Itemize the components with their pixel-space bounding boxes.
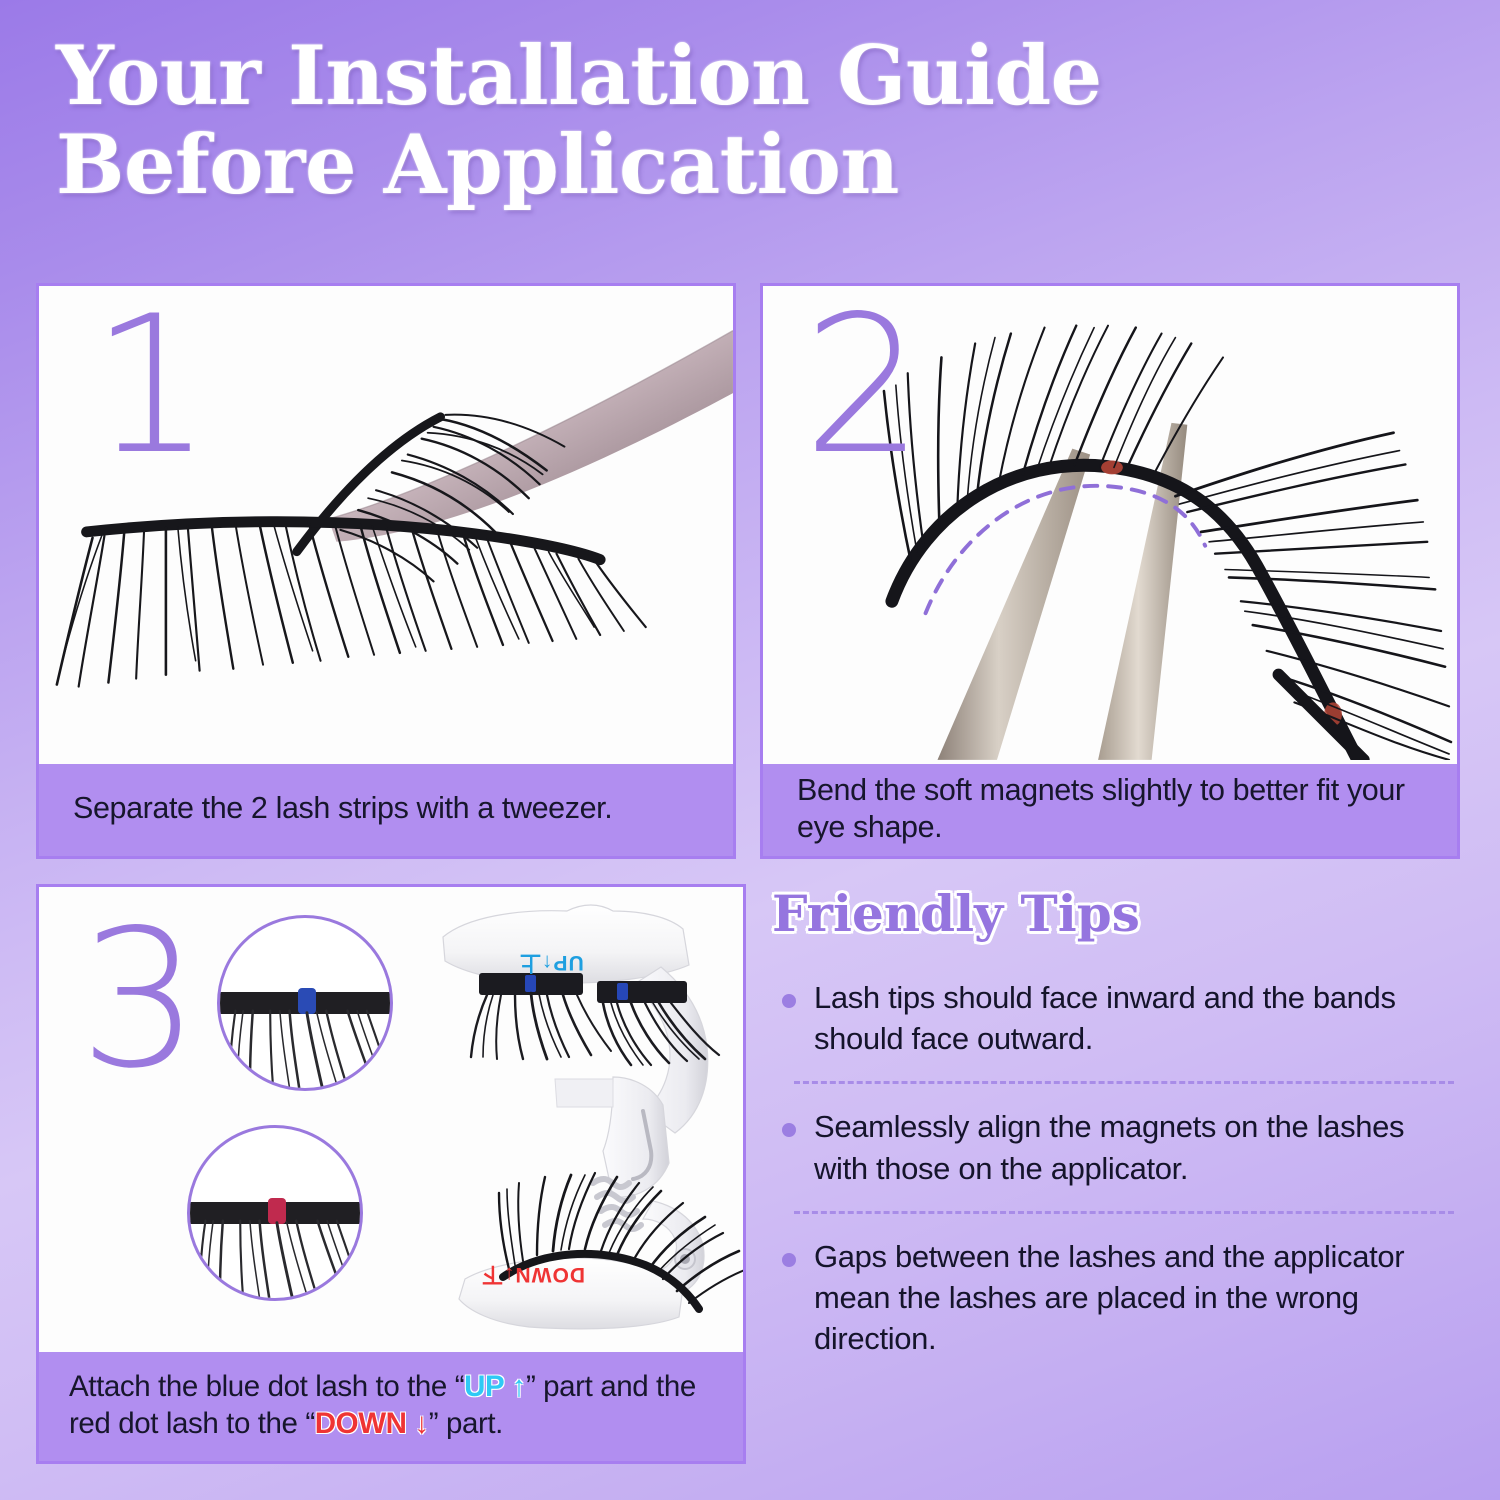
step-1-photo: 1 — [39, 286, 733, 764]
step-2-caption: Bend the soft magnets slightly to better… — [763, 764, 1457, 856]
step-card-1: 1 — [36, 283, 736, 859]
tip-item-2: Seamlessly align the magnets on the lash… — [772, 1106, 1462, 1188]
detail-circle-red-dot — [187, 1125, 363, 1301]
tip-item-1: Lash tips should face inward and the ban… — [772, 977, 1462, 1059]
step-3-caption: Attach the blue dot lash to the “UP ↑” p… — [39, 1352, 743, 1461]
step-card-3: 3 — [36, 884, 746, 1464]
bend-magnets-tweezer-illustration — [763, 286, 1457, 760]
step-2-photo: 2 — [763, 286, 1457, 764]
tip-1-text: Lash tips should face inward and the ban… — [814, 977, 1462, 1059]
tip-2-text: Seamlessly align the magnets on the lash… — [814, 1106, 1462, 1188]
lash-applicator: UP↑上 DOWN↓下 — [407, 901, 743, 1331]
page-title: Your Installation Guide Before Applicati… — [56, 38, 1356, 205]
detail-circle-blue-dot — [217, 915, 393, 1091]
tip-3-text: Gaps between the lashes and the applicat… — [814, 1236, 1462, 1360]
applicator-label-down: DOWN↓下 — [481, 1261, 585, 1291]
step-3-caption-text: Attach the blue dot lash to the “UP ↑” p… — [69, 1369, 731, 1442]
step-1-caption: Separate the 2 lash strips with a tweeze… — [39, 764, 733, 856]
bullet-icon — [782, 1123, 796, 1137]
page-title-line-2: Before Application — [56, 127, 1356, 206]
step-3-caption-part-3: ” part. — [429, 1407, 503, 1440]
step-1-caption-text: Separate the 2 lash strips with a tweeze… — [73, 790, 699, 828]
friendly-tips-heading: Friendly Tips — [772, 884, 1462, 943]
step-3-caption-part-1: Attach the blue dot lash to the “ — [69, 1370, 464, 1403]
step-3-photo: 3 — [39, 887, 743, 1352]
keyword-down: DOWN ↓ — [315, 1407, 429, 1440]
lash-strips-tweezer-illustration — [39, 286, 733, 760]
bullet-icon — [782, 994, 796, 1008]
red-detail-lash-strands — [190, 1128, 360, 1298]
tip-divider-1 — [794, 1081, 1454, 1084]
tip-divider-2 — [794, 1211, 1454, 1214]
friendly-tips-section: Friendly Tips Lash tips should face inwa… — [772, 884, 1462, 1360]
step-2-caption-text: Bend the soft magnets slightly to better… — [797, 772, 1423, 847]
page-title-line-1: Your Installation Guide — [56, 38, 1356, 117]
step-card-2: 2 — [760, 283, 1460, 859]
bullet-icon — [782, 1253, 796, 1267]
step-number-3: 3 — [79, 905, 200, 1095]
keyword-up: UP ↑ — [464, 1370, 526, 1403]
applicator-label-up: UP↑上 — [519, 949, 584, 979]
tip-item-3: Gaps between the lashes and the applicat… — [772, 1236, 1462, 1360]
blue-detail-lash-strands — [220, 918, 390, 1088]
